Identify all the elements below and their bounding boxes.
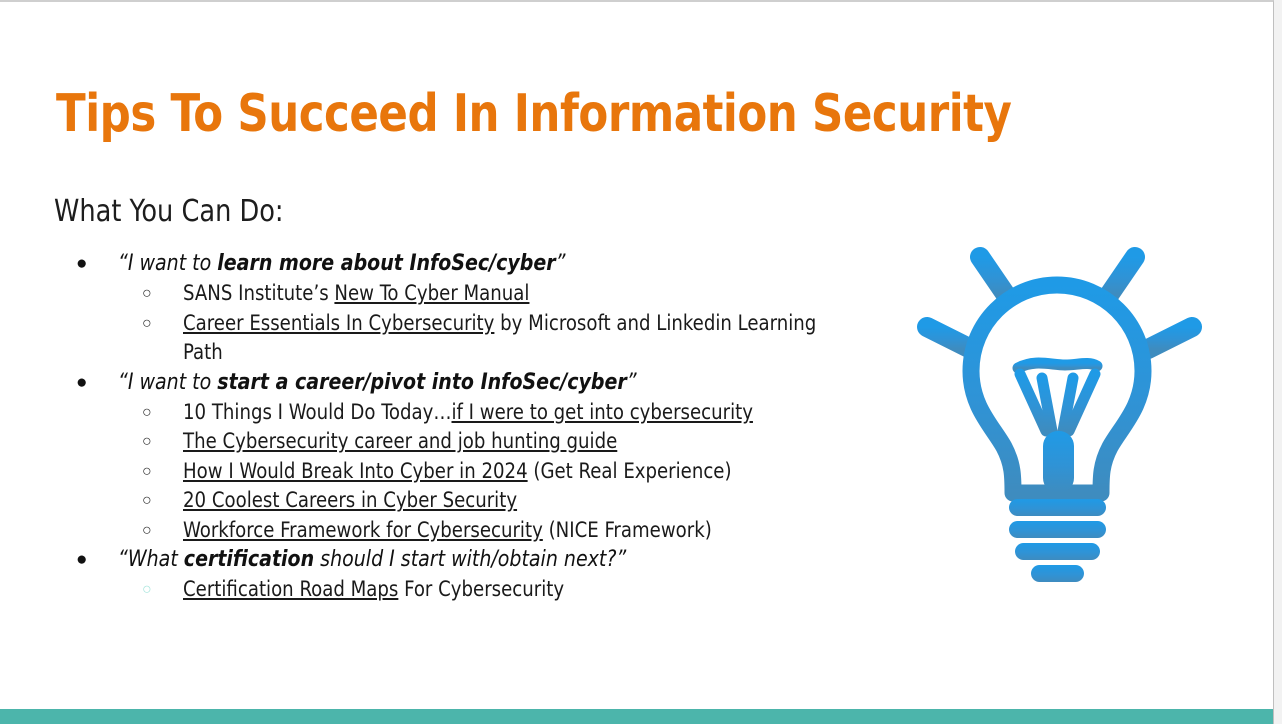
quote-close: ” (627, 370, 637, 395)
sub-bullet-text: Certification Road Maps For Cybersecurit… (183, 575, 848, 605)
text-suffix: For Cybersecurity (398, 577, 564, 601)
bullet-item: ● “I want to start a career/pivot into I… (56, 368, 876, 397)
sub-bullet-item: ○ Certification Road Maps For Cybersecur… (56, 575, 876, 605)
sub-bullet-text: Workforce Framework for Cybersecurity (N… (183, 516, 848, 546)
resource-link[interactable]: Workforce Framework for Cybersecurity (183, 518, 543, 542)
resource-link[interactable]: Certification Road Maps (183, 577, 398, 601)
resource-link[interactable]: Career Essentials In Cybersecurity (183, 311, 494, 335)
bullet-text: “I want to start a career/pivot into Inf… (118, 368, 846, 397)
sub-bullet-item: ○ Career Essentials In Cybersecurity by … (56, 309, 876, 368)
bullet-text: “What certification should I start with/… (118, 545, 846, 574)
sub-bullet-marker: ○ (142, 457, 152, 486)
sub-bullet-item: ○ SANS Institute’s New To Cyber Manual (56, 279, 876, 309)
sub-bullet-marker: ○ (142, 575, 152, 604)
bullet-item: ● “I want to learn more about InfoSec/cy… (56, 249, 876, 278)
text-suffix: (NICE Framework) (543, 518, 712, 542)
sub-bullet-marker: ○ (142, 516, 152, 545)
sub-bullet-marker: ○ (142, 486, 152, 515)
sub-bullet-text: SANS Institute’s New To Cyber Manual (183, 279, 848, 309)
text-prefix: 10 Things I Would Do Today… (183, 400, 452, 424)
page-title: Tips To Succeed In Information Security (56, 84, 1011, 144)
text-prefix: SANS Institute’s (183, 281, 334, 305)
bullet-item: ● “What certification should I start wit… (56, 545, 876, 574)
emphasis-text: start a career/pivot into InfoSec/cyber (217, 370, 627, 395)
sub-bullet-item: ○ How I Would Break Into Cyber in 2024 (… (56, 457, 876, 487)
sub-bullet-marker: ○ (142, 427, 152, 456)
sub-bullet-item: ○ 20 Coolest Careers in Cyber Security (56, 486, 876, 516)
slide-canvas: Tips To Succeed In Information Security … (0, 0, 1274, 724)
sub-bullet-text: The Cybersecurity career and job hunting… (183, 427, 848, 457)
quote-close: should I start with/obtain next?” (314, 547, 626, 572)
bullet-text: “I want to learn more about InfoSec/cybe… (118, 249, 846, 278)
sub-bullet-marker: ○ (142, 279, 152, 308)
sub-bullet-item: ○ Workforce Framework for Cybersecurity … (56, 516, 876, 546)
quote-open: “I want to (118, 251, 217, 276)
sub-bullet-text: 10 Things I Would Do Today…if I were to … (183, 398, 848, 428)
bullet-marker: ● (76, 249, 87, 278)
bullet-marker: ● (76, 368, 87, 397)
sub-bullet-marker: ○ (142, 309, 152, 338)
resource-link[interactable]: The Cybersecurity career and job hunting… (183, 429, 617, 453)
bullet-list: ● “I want to learn more about InfoSec/cy… (56, 249, 876, 605)
quote-close: ” (556, 251, 566, 276)
resource-link[interactable]: New To Cyber Manual (334, 281, 529, 305)
emphasis-text: certification (184, 547, 314, 572)
sub-bullet-marker: ○ (142, 398, 152, 427)
sub-bullet-item: ○ 10 Things I Would Do Today…if I were t… (56, 398, 876, 428)
sub-bullet-text: 20 Coolest Careers in Cyber Security (183, 486, 848, 516)
resource-link[interactable]: How I Would Break Into Cyber in 2024 (183, 459, 528, 483)
resource-link[interactable]: 20 Coolest Careers in Cyber Security (183, 488, 517, 512)
resource-link[interactable]: if I were to get into cybersecurity (452, 400, 753, 424)
text-suffix: (Get Real Experience) (528, 459, 732, 483)
sub-bullet-text: Career Essentials In Cybersecurity by Mi… (183, 309, 848, 368)
sub-bullet-text: How I Would Break Into Cyber in 2024 (Ge… (183, 457, 848, 487)
lightbulb-icon (905, 215, 1215, 590)
sub-bullet-item: ○ The Cybersecurity career and job hunti… (56, 427, 876, 457)
quote-open: “What (118, 547, 184, 572)
subtitle: What You Can Do: (54, 194, 284, 229)
bullet-marker: ● (76, 545, 87, 574)
accent-bar (0, 709, 1274, 724)
emphasis-text: learn more about InfoSec/cyber (217, 251, 555, 276)
quote-open: “I want to (118, 370, 217, 395)
